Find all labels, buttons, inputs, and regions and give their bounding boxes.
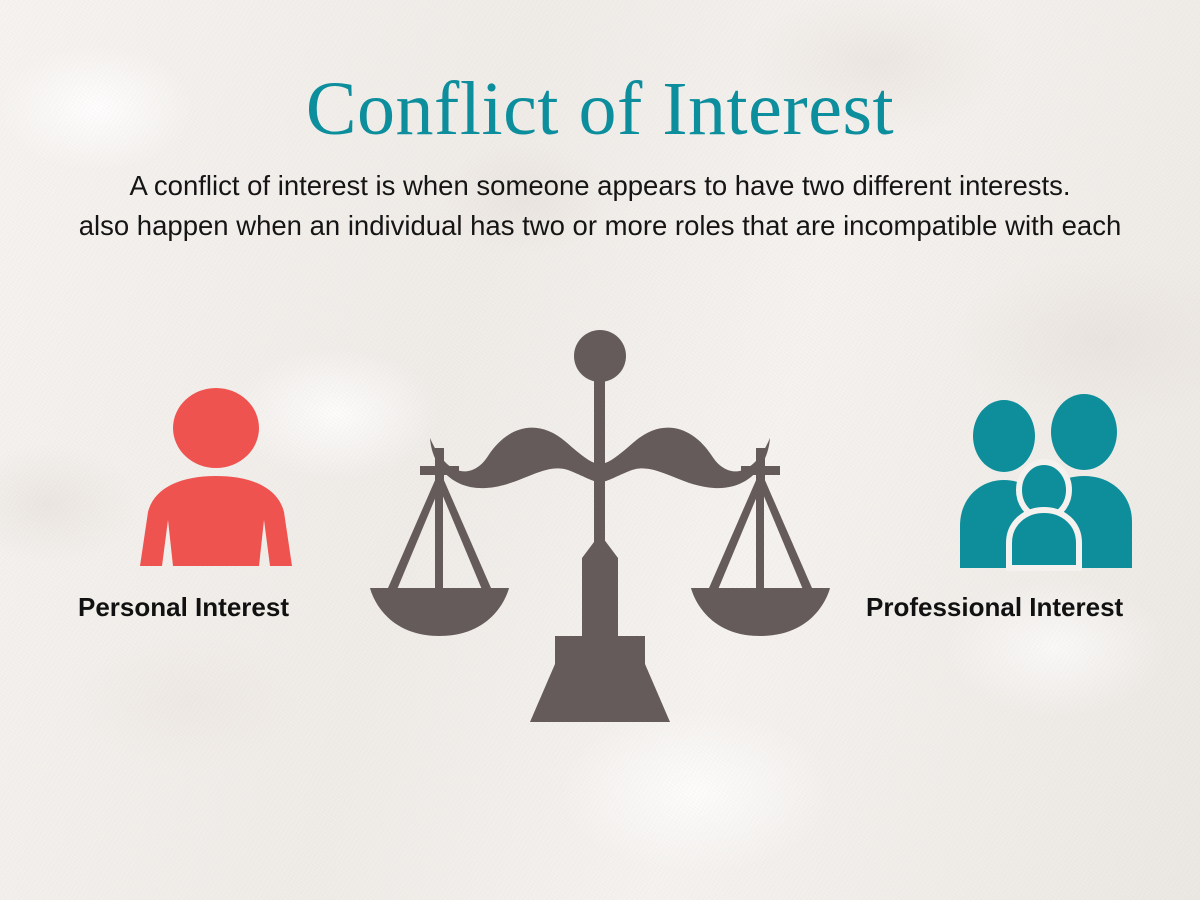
slide-content: Conflict of Interest A conflict of inter… <box>0 0 1200 900</box>
scale-right-pan <box>691 588 830 636</box>
scale-right-string-outer-b <box>758 478 812 592</box>
page-title: Conflict of Interest <box>0 66 1200 152</box>
balance-scale-figure <box>370 330 830 730</box>
scale-plinth <box>555 636 645 664</box>
professional-interest-figure <box>958 390 1134 568</box>
scale-left-pan <box>370 588 509 636</box>
person-body <box>140 476 292 566</box>
scale-right-string-outer-a <box>709 478 763 592</box>
personal-interest-label: Personal Interest <box>78 592 289 623</box>
single-person-icon <box>132 388 300 568</box>
professional-interest-label: Professional Interest <box>866 592 1123 623</box>
scale-right-string-center <box>756 478 764 592</box>
scale-left-string-center <box>435 478 443 592</box>
scale-left-string-outer-a <box>388 478 442 592</box>
slide-canvas: Conflict of Interest A conflict of inter… <box>0 0 1200 900</box>
group-child-body <box>1009 510 1079 568</box>
scale-left-string-outer-b <box>437 478 491 592</box>
scale-right-crossbar <box>741 466 780 475</box>
personal-interest-figure <box>132 388 300 568</box>
group-adult-left-head <box>973 400 1035 472</box>
person-head <box>173 388 259 468</box>
body-paragraph: A conflict of interest is when someone a… <box>0 166 1200 246</box>
body-line-1: A conflict of interest is when someone a… <box>0 166 1200 206</box>
body-line-2: also happen when an individual has two o… <box>0 206 1200 246</box>
scale-column <box>582 534 618 636</box>
scale-top-knob <box>574 330 626 382</box>
group-adult-right-head <box>1051 394 1117 470</box>
scale-left-crossbar <box>420 466 459 475</box>
balance-scale-icon <box>370 330 830 730</box>
scale-base <box>530 664 670 722</box>
group-of-people-icon <box>958 390 1134 568</box>
